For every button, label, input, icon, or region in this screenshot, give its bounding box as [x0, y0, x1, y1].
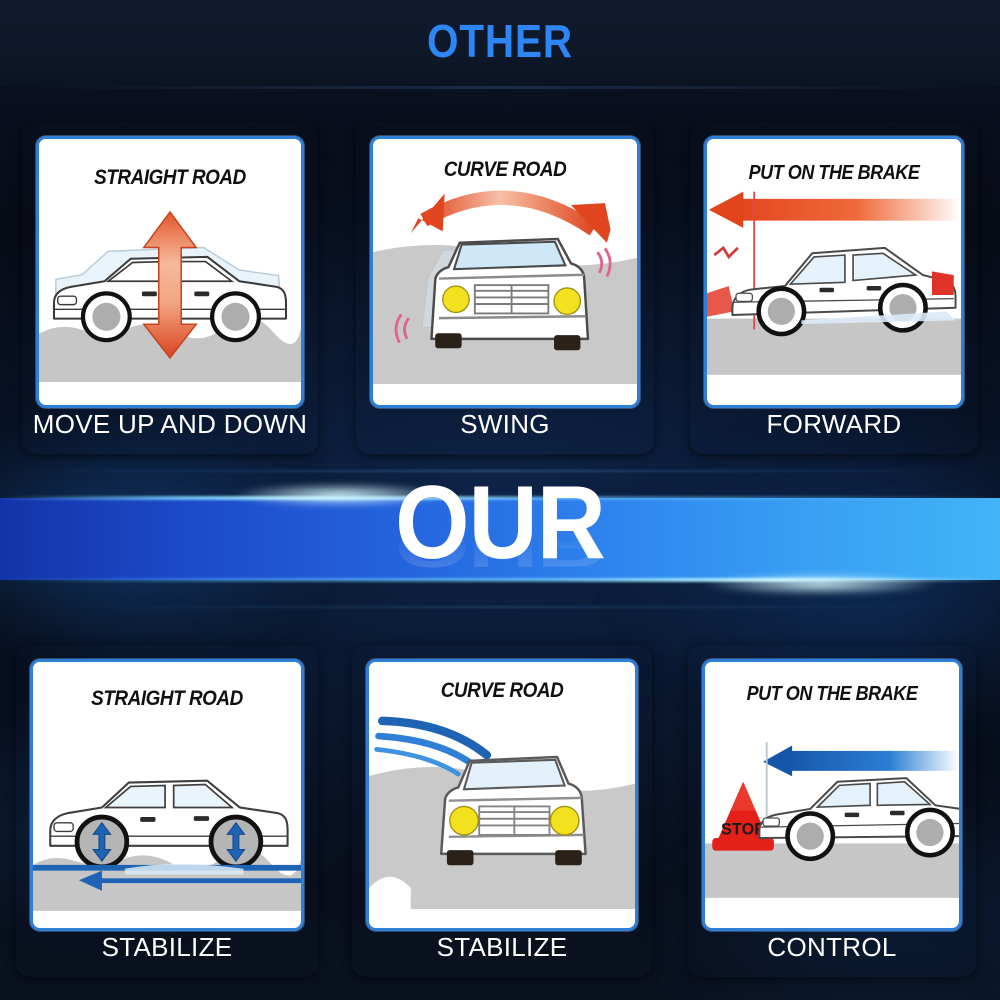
wheel-arrow-icon-rear — [211, 817, 261, 867]
banner-title: OUR — [40, 471, 960, 575]
card-label: CONTROL — [688, 917, 976, 977]
tile-title: STRAIGHT ROAD — [31, 687, 303, 711]
card-label: STABILIZE — [16, 917, 318, 977]
product-infographic: OTHER — [0, 0, 1000, 1000]
card-label: MOVE UP AND DOWN — [22, 394, 318, 454]
card-label: STABILIZE — [352, 917, 652, 977]
card-move-up-and-down[interactable]: MOVE UP AND DOWN STRAIGHT ROAD — [22, 122, 318, 454]
card-forward[interactable]: FORWARD PUT ON THE BRAKE — [690, 122, 978, 454]
tile-title: STRAIGHT ROAD — [37, 166, 303, 190]
card-control[interactable]: STOP CONTROL PUT ON THE BRAKE — [688, 645, 976, 977]
wheel-arrow-icon-front — [77, 817, 127, 867]
background-streak-lower — [0, 606, 1000, 608]
tile-title: CURVE ROAD — [371, 158, 639, 182]
header-divider — [0, 86, 1000, 89]
card-stabilize-curve[interactable]: STABILIZE CURVE ROAD — [352, 645, 652, 977]
card-label: SWING — [356, 394, 654, 454]
card-swing[interactable]: SWING CURVE ROAD — [356, 122, 654, 454]
banner-flare-right — [700, 572, 940, 596]
tile-title: PUT ON THE BRAKE — [704, 162, 963, 185]
page-title: OTHER — [60, 14, 940, 68]
card-stabilize-straight[interactable]: STABILIZE STRAIGHT ROAD — [16, 645, 318, 977]
card-label: FORWARD — [690, 394, 978, 454]
tile-title: PUT ON THE BRAKE — [702, 683, 961, 706]
header-bar: OTHER — [0, 0, 1000, 88]
tile-title: CURVE ROAD — [367, 679, 637, 703]
